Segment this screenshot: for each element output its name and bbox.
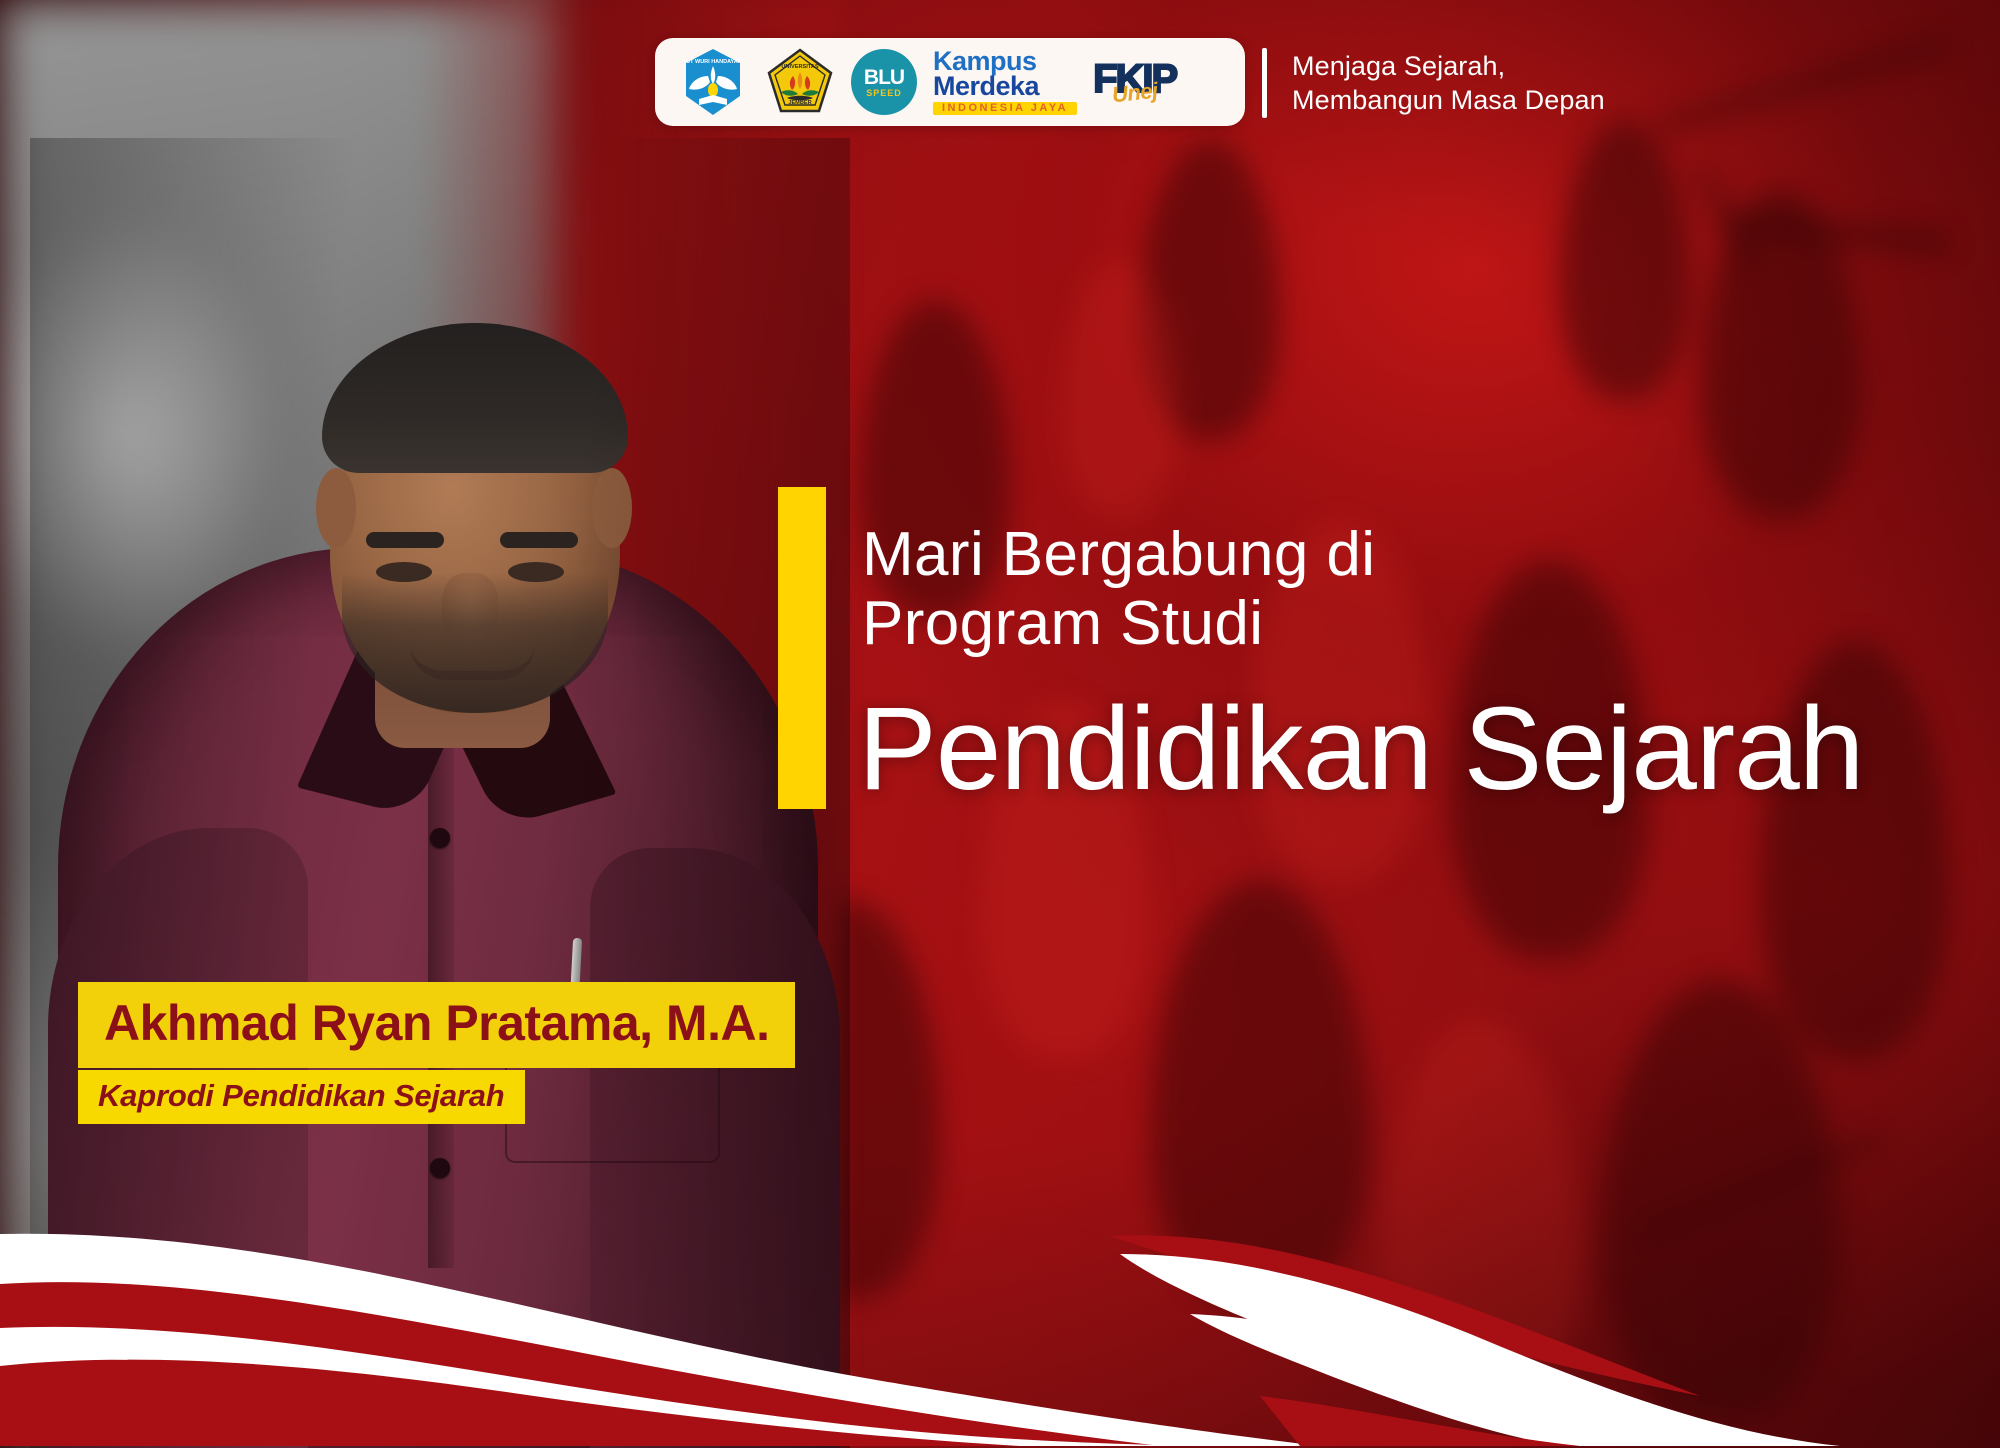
headline-kicker: Mari Bergabung di Program Studi	[862, 520, 1962, 659]
kampus-merdeka-ribbon: INDONESIA JAYA	[933, 102, 1077, 115]
svg-text:JEMBER: JEMBER	[788, 100, 811, 106]
blu-speed-text: SPEED	[866, 89, 902, 98]
tut-wuri-handayani-icon: TUT WURI HANDAYANI	[677, 46, 749, 118]
blu-speed-icon: BLU SPEED	[851, 49, 917, 115]
tagline-line-1: Menjaga Sejarah,	[1292, 50, 1852, 84]
person-role-badge: Kaprodi Pendidikan Sejarah	[78, 1070, 525, 1124]
kampus-merdeka-line2: Merdeka	[933, 74, 1039, 99]
bottom-wave-decoration	[0, 1188, 2000, 1448]
portrait-ear-right	[592, 468, 632, 548]
universitas-jember-icon: UNIVERSITAS JEMBER	[765, 47, 835, 117]
kicker-line-1: Mari Bergabung di	[862, 520, 1962, 589]
portrait-eyebrow-left	[366, 532, 444, 548]
headline-accent-bar	[778, 487, 826, 809]
portrait-ear-left	[316, 468, 356, 548]
svg-text:TUT WURI HANDAYANI: TUT WURI HANDAYANI	[683, 59, 744, 65]
portrait-eyebrow-right	[500, 532, 578, 548]
kicker-line-2: Program Studi	[862, 589, 1962, 658]
kampus-merdeka-icon: Kampus Merdeka INDONESIA JAYA	[933, 49, 1077, 115]
promo-banner: TUT WURI HANDAYANI UNIVERSITAS JEMBER	[0, 0, 2000, 1448]
portrait-shirt-button	[430, 828, 450, 848]
fkip-unej-icon: FKIP Unej	[1093, 62, 1176, 103]
svg-text:UNIVERSITAS: UNIVERSITAS	[781, 64, 818, 70]
person-name-badge: Akhmad Ryan Pratama, M.A.	[78, 982, 795, 1068]
blu-text: BLU	[864, 67, 904, 88]
page-title: Pendidikan Sejarah	[858, 690, 2000, 808]
tagline-line-2: Membangun Masa Depan	[1292, 84, 1852, 118]
portrait-shirt-button	[430, 1158, 450, 1178]
portrait-hair	[322, 323, 628, 473]
tagline: Menjaga Sejarah, Membangun Masa Depan	[1292, 50, 1852, 118]
tagline-divider	[1262, 48, 1267, 118]
logo-bar: TUT WURI HANDAYANI UNIVERSITAS JEMBER	[655, 38, 1245, 126]
unej-script: Unej	[1111, 81, 1158, 104]
